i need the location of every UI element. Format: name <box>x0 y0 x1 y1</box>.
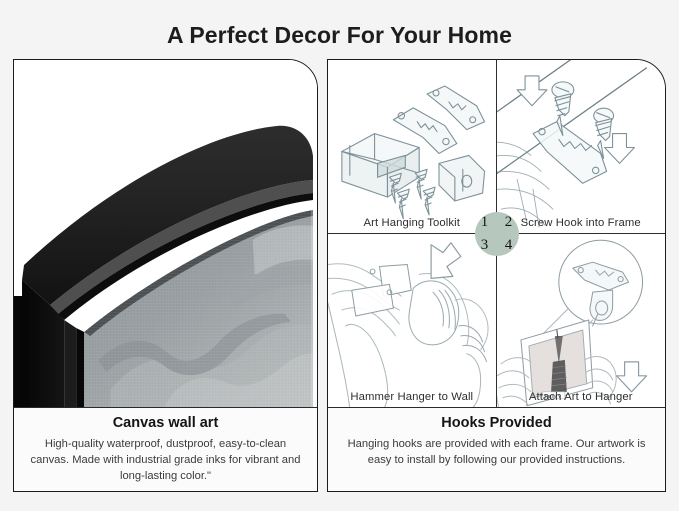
badge-number-2: 2 <box>503 215 513 231</box>
canvas-caption-body: High-quality waterproof, dustproof, easy… <box>24 436 307 484</box>
step-cell-2: Screw Hook into Frame <box>497 60 666 234</box>
installation-steps-grid: Art Hanging Toolkit <box>328 60 665 408</box>
step-label-3: Hammer Hanger to Wall <box>328 391 496 403</box>
hooks-caption-body: Hanging hooks are provided with each fra… <box>338 436 655 468</box>
attach-art-illustration: NEW Y <box>497 234 666 408</box>
canvas-caption-title: Canvas wall art <box>24 415 307 432</box>
page-title: A Perfect Decor For Your Home <box>0 22 679 49</box>
left-caption: Canvas wall art High-quality waterproof,… <box>14 407 317 491</box>
step-label-4: Attach Art to Hanger <box>497 391 666 403</box>
step-label-1: Art Hanging Toolkit <box>328 217 496 229</box>
badge-number-4: 4 <box>503 237 513 253</box>
step-number-badge: 1 2 3 4 <box>475 212 519 256</box>
screw-hook-illustration <box>497 60 666 233</box>
infographic-root: A Perfect Decor For Your Home <box>0 0 679 511</box>
badge-number-1: 1 <box>481 215 491 231</box>
right-caption: Hooks Provided Hanging hooks are provide… <box>328 407 665 491</box>
hammer-hanger-illustration-cell: Hammer Hanger to Wall <box>328 234 497 408</box>
hooks-caption-title: Hooks Provided <box>338 415 655 432</box>
hammer-hanger-illustration <box>328 234 496 408</box>
badge-number-3: 3 <box>481 237 491 253</box>
canvas-wall-art-panel: Canvas wall art High-quality waterproof,… <box>13 59 318 492</box>
hooks-provided-panel: Art Hanging Toolkit <box>327 59 666 492</box>
black-framed-canvas-photo <box>14 60 317 408</box>
toolkit-illustration <box>328 60 496 233</box>
attach-art-illustration-cell: NEW Y <box>497 234 666 408</box>
step-label-2: Screw Hook into Frame <box>497 217 666 229</box>
step-cell-1: Art Hanging Toolkit <box>328 60 497 234</box>
